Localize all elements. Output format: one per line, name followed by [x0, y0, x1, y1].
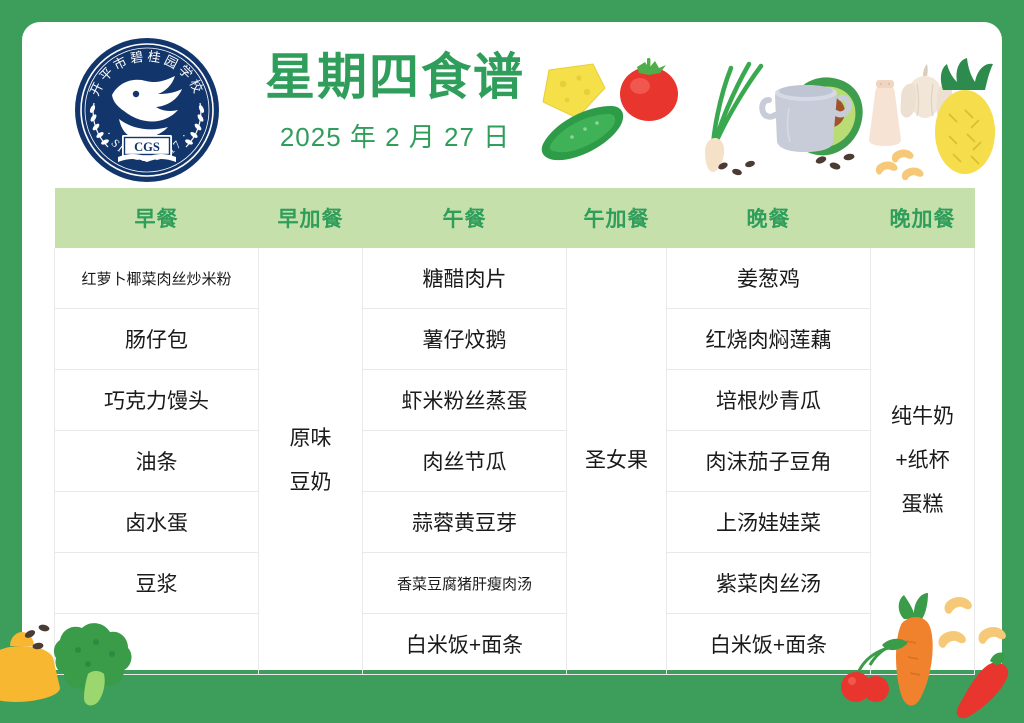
cell-morning-snack: 原味 豆奶	[259, 248, 363, 675]
cell-breakfast-6: 豆浆	[55, 553, 259, 614]
cashew-icon	[876, 150, 924, 181]
cell-dinner-2: 红烧肉焖莲藕	[667, 309, 871, 370]
white-panel: 开平市碧桂园学校 · SINCE 2017 ·	[22, 22, 1002, 670]
menu-table: 早餐 早加餐 午餐 午加餐 晚餐 晚加餐 红萝卜椰菜肉丝炒米粉 原味 豆奶 糖醋…	[54, 188, 975, 675]
cell-dinner-1: 姜葱鸡	[667, 248, 871, 309]
menu-date: 2025 年 2 月 27 日	[250, 117, 540, 154]
seeds-icon	[815, 153, 855, 171]
cell-lunch-6: 香菜豆腐猪肝瘦肉汤	[363, 553, 567, 614]
cell-lunch-1: 糖醋肉片	[363, 248, 567, 309]
table-row: 巧克力馒头 虾米粉丝蒸蛋 培根炒青瓜	[55, 370, 975, 431]
cell-breakfast-7	[55, 614, 259, 675]
cell-lunch-5: 蒜蓉黄豆芽	[363, 492, 567, 553]
morning-snack-line-2: 豆奶	[260, 461, 361, 505]
cooking-pot-icon	[762, 85, 848, 152]
cell-lunch-7: 白米饭+面条	[363, 614, 567, 675]
cell-breakfast-1: 红萝卜椰菜肉丝炒米粉	[55, 248, 259, 309]
cell-afternoon-snack: 圣女果	[567, 248, 667, 675]
column-header-breakfast: 早餐	[55, 188, 259, 248]
cell-dinner-4: 肉沫茄子豆角	[667, 431, 871, 492]
cell-lunch-2: 薯仔炆鹅	[363, 309, 567, 370]
table-header-row: 早餐 早加餐 午餐 午加餐 晚餐 晚加餐	[55, 188, 975, 248]
cell-breakfast-2: 肠仔包	[55, 309, 259, 370]
afternoon-snack-line-1: 圣女果	[568, 439, 665, 483]
cell-evening-snack: 纯牛奶 +纸杯 蛋糕	[871, 248, 975, 675]
table-row: 红萝卜椰菜肉丝炒米粉 原味 豆奶 糖醋肉片 圣女果 姜葱鸡 纯牛奶 +纸杯 蛋糕	[55, 248, 975, 309]
menu-poster: 开平市碧桂园学校 · SINCE 2017 ·	[0, 0, 1024, 723]
evening-snack-line-2: +纸杯	[872, 439, 973, 483]
top-kitchen-illustrations	[757, 50, 1007, 180]
cucumber-icon	[542, 106, 623, 160]
cell-dinner-5: 上汤娃娃菜	[667, 492, 871, 553]
column-header-evening-snack: 晚加餐	[871, 188, 975, 248]
pineapple-icon	[935, 58, 995, 174]
cell-dinner-6: 紫菜肉丝汤	[667, 553, 871, 614]
green-onion-icon	[705, 64, 761, 172]
cell-breakfast-3: 巧克力馒头	[55, 370, 259, 431]
table-row: 油条 肉丝节瓜 肉沫茄子豆角	[55, 431, 975, 492]
column-header-lunch: 午餐	[363, 188, 567, 248]
cell-breakfast-5: 卤水蛋	[55, 492, 259, 553]
table-row: 肠仔包 薯仔炆鹅 红烧肉焖莲藕	[55, 309, 975, 370]
table-row: 白米饭+面条 白米饭+面条	[55, 614, 975, 675]
column-header-afternoon-snack: 午加餐	[567, 188, 667, 248]
cell-breakfast-4: 油条	[55, 431, 259, 492]
poster-header: 开平市碧桂园学校 · SINCE 2017 ·	[22, 22, 1002, 182]
evening-snack-line-1: 纯牛奶	[872, 395, 973, 439]
table-row: 卤水蛋 蒜蓉黄豆芽 上汤娃娃菜	[55, 492, 975, 553]
cell-dinner-7: 白米饭+面条	[667, 614, 871, 675]
table-row: 豆浆 香菜豆腐猪肝瘦肉汤 紫菜肉丝汤	[55, 553, 975, 614]
school-crest-logo: 开平市碧桂园学校 · SINCE 2017 ·	[74, 37, 220, 183]
salt-shaker-icon	[869, 80, 901, 146]
svg-text:CGS: CGS	[134, 140, 160, 154]
tomato-icon	[620, 58, 678, 121]
cell-lunch-4: 肉丝节瓜	[363, 431, 567, 492]
cell-dinner-3: 培根炒青瓜	[667, 370, 871, 431]
cell-lunch-3: 虾米粉丝蒸蛋	[363, 370, 567, 431]
column-header-morning-snack: 早加餐	[259, 188, 363, 248]
morning-snack-line-1: 原味	[260, 417, 361, 461]
title-block: 星期四食谱 2025 年 2 月 27 日	[250, 50, 540, 154]
seeds-icon	[717, 160, 755, 176]
evening-snack-line-3: 蛋糕	[872, 483, 973, 527]
column-header-dinner: 晚餐	[667, 188, 871, 248]
page-title: 星期四食谱	[250, 50, 540, 105]
